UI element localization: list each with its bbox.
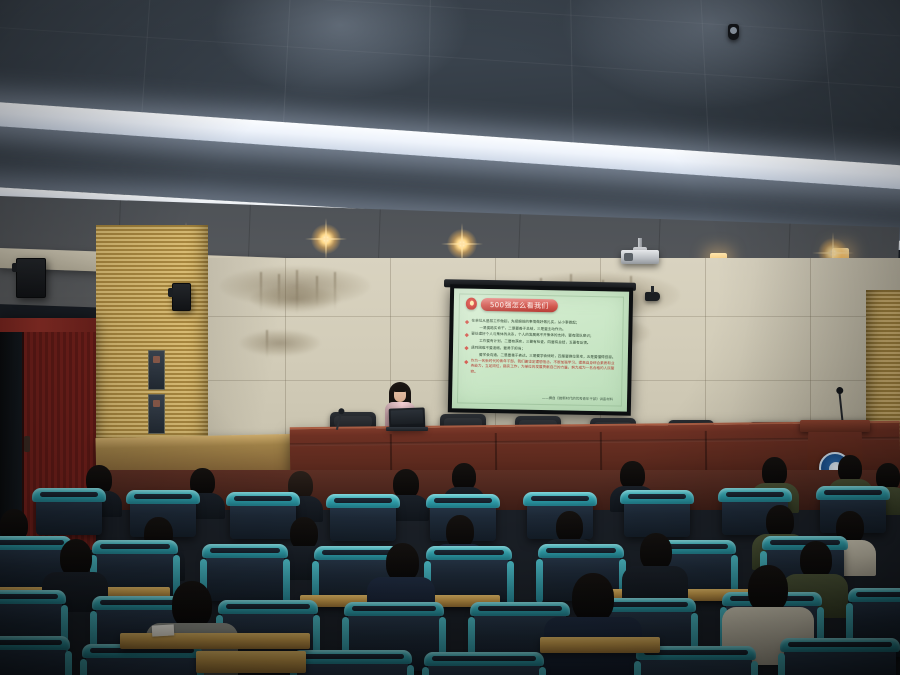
presentation-slide: 500强怎么看我们 在单位从基层工作做起，先把眼前的事情做好做扎实，从小事做起；… xyxy=(452,288,629,411)
auditorium-seat[interactable] xyxy=(296,655,408,675)
wall-speaker xyxy=(172,283,191,311)
desk-row xyxy=(120,633,310,649)
seated-audience xyxy=(0,455,900,675)
auditorium-seat[interactable] xyxy=(0,641,66,675)
wall-poster xyxy=(148,394,165,434)
slide-bullet-line-highlight: 作为一名新时代的青年干部，我们要坚定理想信念，不断加强学习，提高自身综合素质和业… xyxy=(465,359,616,378)
ceiling-lamp xyxy=(447,229,477,259)
auditorium-seat[interactable] xyxy=(230,497,296,539)
paper-sheet xyxy=(152,624,175,636)
door-handle-icon[interactable] xyxy=(24,436,30,452)
auditorium-seat[interactable] xyxy=(86,649,198,675)
conference-hall-photo: 500强怎么看我们 在单位从基层工作做起，先把眼前的事情做好做扎实，从小事做起；… xyxy=(0,0,900,675)
auditorium-seat[interactable] xyxy=(784,643,896,675)
presenter-fringe xyxy=(393,385,407,392)
slide-title: 500强怎么看我们 xyxy=(481,298,558,312)
security-camera xyxy=(645,292,660,301)
auditorium-seat[interactable] xyxy=(330,499,396,541)
laptop-base xyxy=(386,427,428,431)
wall-speaker xyxy=(16,258,46,298)
ceiling-lamp xyxy=(311,224,341,254)
slide-bullet-list: 在单位从基层工作做起，先把眼前的事情做好做扎实，从小事做起； 一是要踏实肯干，二… xyxy=(464,319,616,379)
ceiling-camera xyxy=(728,24,739,40)
auditorium-seat[interactable] xyxy=(206,549,284,601)
auditorium-seat[interactable] xyxy=(36,493,102,535)
projection-screen: 500强怎么看我们 在单位从基层工作做起，先把眼前的事情做好做扎实，从小事做起；… xyxy=(448,284,633,415)
slide-seal-logo-icon xyxy=(466,298,477,310)
slide-bullet-text: 作为一名新时代的青年干部，我们要坚定理想信念，不断加强学习，提高自身综合素质和业… xyxy=(471,359,616,377)
desk-row xyxy=(540,637,660,653)
podium-top xyxy=(800,420,870,432)
auditorium-seat[interactable] xyxy=(640,651,752,675)
desk-row xyxy=(196,651,306,673)
slide-bullet-text: 遇到困难不要退缩，要勇于担当； xyxy=(471,345,525,351)
auditorium-seat[interactable] xyxy=(624,495,690,537)
wall-poster xyxy=(148,350,165,390)
ceiling-projector xyxy=(621,250,659,264)
auditorium-seat[interactable] xyxy=(428,657,540,675)
